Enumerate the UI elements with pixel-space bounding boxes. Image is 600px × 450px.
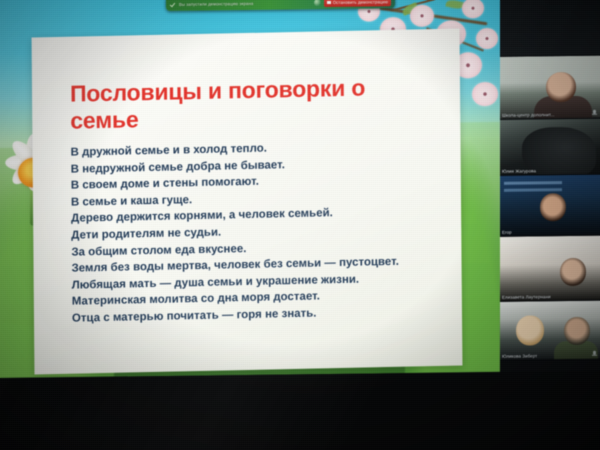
monitor-screen: Пословицы и поговорки о семье В дружной …	[0, 0, 600, 378]
participant-name: Юлия Жагурова	[502, 168, 536, 173]
participant-name: Елизавета Лаутернани	[502, 294, 551, 300]
proverb-list: В дружной семье и в холод тепло. В недру…	[70, 136, 472, 327]
participant-tile[interactable]: Юлия Жагурова	[500, 119, 600, 176]
microphone-icon	[592, 110, 597, 116]
participant-tile[interactable]: Елизавета Лаутернани	[500, 236, 600, 302]
participant-video-strip[interactable]: Школа-центр дополнит... Юлия Жагурова Ег…	[500, 0, 600, 372]
stop-square-icon	[327, 1, 331, 5]
photo-of-monitor: Пословицы и поговорки о семье В дружной …	[0, 0, 600, 450]
check-icon	[170, 1, 176, 7]
participant-name: Школа-центр дополнит...	[502, 112, 554, 118]
participant-video	[500, 119, 600, 175]
slide-title: Пословицы и поговорки о семье	[70, 73, 430, 135]
participant-video	[500, 175, 600, 236]
participant-video	[500, 236, 600, 301]
shared-screen-content: Пословицы и поговорки о семье В дружной …	[0, 0, 500, 378]
participant-tile[interactable]	[500, 0, 600, 57]
participant-name: Юликова Зиберт	[502, 353, 537, 358]
participant-video	[500, 56, 600, 119]
stop-share-button[interactable]: Остановить демонстрацию	[324, 0, 391, 7]
participant-video	[500, 301, 600, 360]
participant-tile[interactable]: Школа-центр дополнит...	[500, 56, 600, 120]
participant-name: Егор	[502, 230, 512, 235]
share-status-text: Вы запустили демонстрацию экрана	[179, 0, 311, 7]
slide-text-panel: Пословицы и поговорки о семье В дружной …	[32, 29, 463, 375]
microphone-icon	[592, 351, 597, 357]
screen-share-indicator-icon	[314, 0, 321, 6]
stop-share-button-label: Остановить демонстрацию	[333, 0, 388, 5]
participant-tile[interactable]: Егор	[500, 175, 600, 237]
participant-tile[interactable]: Юликова Зиберт	[500, 301, 600, 361]
participant-video	[500, 0, 600, 56]
